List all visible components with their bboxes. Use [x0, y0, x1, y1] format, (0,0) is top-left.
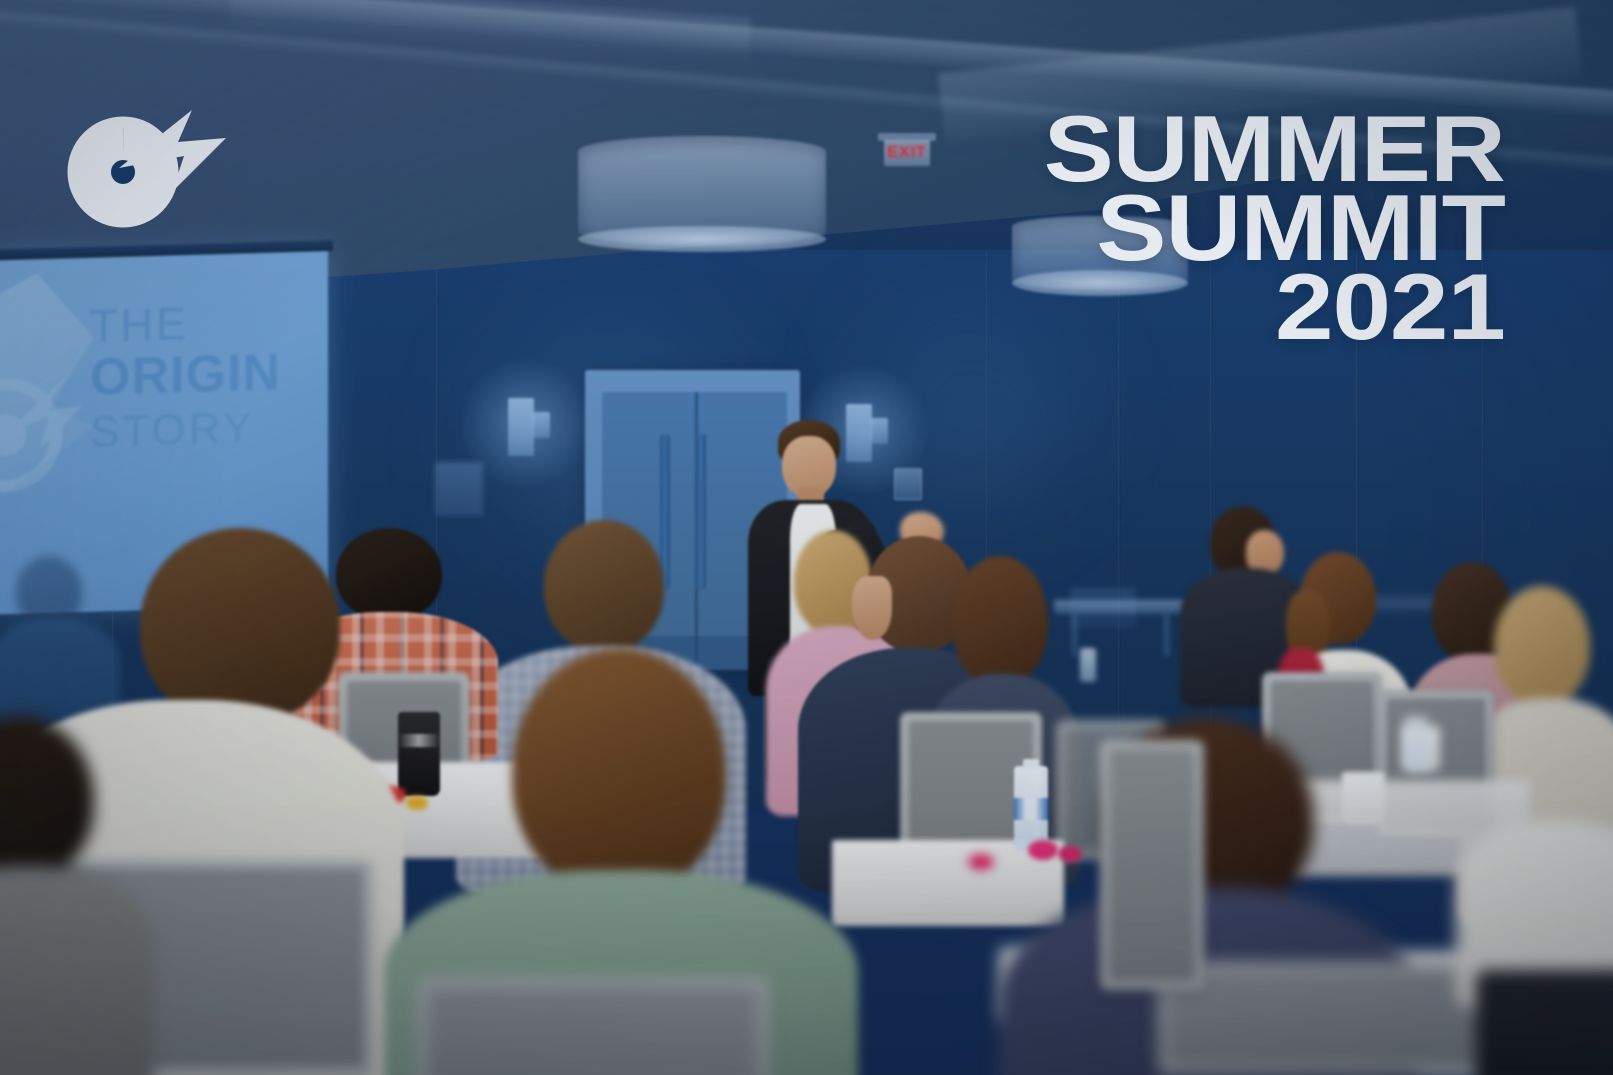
candy-pieces	[1058, 846, 1082, 862]
candy-pieces	[1028, 840, 1058, 860]
back-water-bottle	[1080, 648, 1096, 682]
paper-cup	[1342, 772, 1384, 824]
title-line-year: 2021	[1044, 268, 1505, 345]
slide-line-3: STORY	[90, 408, 281, 454]
water-bottle	[1014, 766, 1048, 850]
event-photo-stage: EXIT THE ORIGIN STORY	[0, 0, 1613, 1075]
back-service-table	[1054, 600, 1186, 614]
banquet-chair	[1158, 962, 1504, 1075]
water-bottle	[1404, 716, 1428, 770]
candy-pieces	[968, 854, 994, 870]
exit-sign: EXIT	[884, 140, 930, 166]
exit-sign-label: EXIT	[887, 144, 927, 162]
target-arrow-icon-watermark	[0, 350, 88, 514]
slide-line-2: ORIGIN	[90, 350, 281, 403]
wall-sconce-left	[508, 398, 534, 456]
wall-sconce-right	[846, 404, 872, 462]
target-arrow-logo	[60, 108, 230, 236]
banquet-chair	[1100, 740, 1204, 990]
banquet-chair	[418, 978, 768, 1075]
back-table-leg	[1164, 614, 1169, 656]
slide-text: THE ORIGIN STORY	[90, 300, 281, 453]
slide-line-1: THE	[90, 300, 281, 347]
wall-access-panel	[435, 462, 483, 516]
back-table-leg	[1072, 614, 1077, 656]
door-push-bar-right	[696, 434, 706, 590]
event-title: SUMMER SUMMIT 2021	[1093, 110, 1505, 345]
wall-thermostat	[894, 468, 922, 500]
drum-pendant-light-center	[578, 136, 826, 246]
black-tumbler	[398, 712, 440, 796]
candy-pieces	[406, 796, 428, 810]
